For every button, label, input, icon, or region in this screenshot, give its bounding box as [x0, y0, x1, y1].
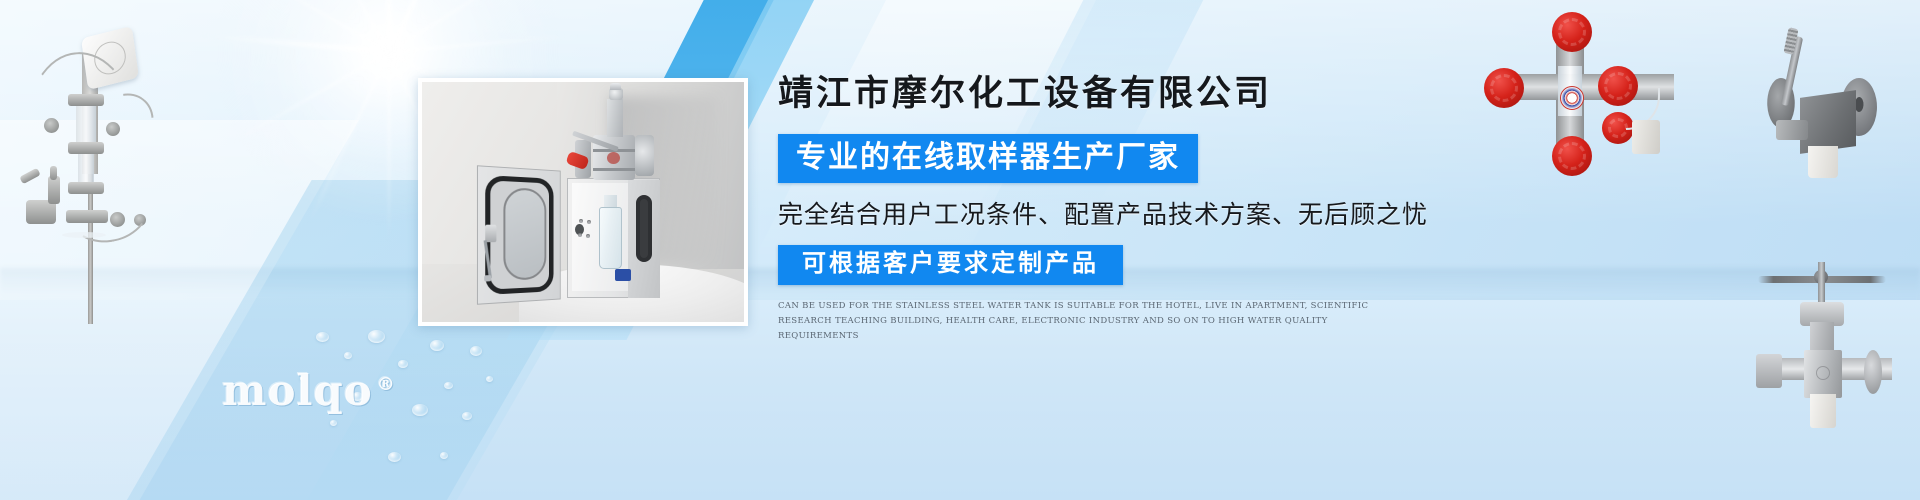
sampler-valve-brand-seal — [607, 152, 620, 164]
sample-bottle-cap — [615, 269, 631, 281]
handwheel-valve-brand-mark — [1816, 366, 1830, 380]
sampler-cabinet-bolt-holes — [573, 219, 592, 243]
product-photo — [422, 82, 744, 322]
equipment-sample-bottle — [62, 232, 106, 238]
red-handwheel-top — [1552, 12, 1592, 52]
sampler-valve-knob — [610, 83, 620, 90]
lever-valve-illustration — [1748, 22, 1908, 202]
left-equipment-illustration — [10, 24, 170, 324]
banner-text-column: 靖江市摩尔化工设备有限公司 专业的在线取样器生产厂家 完全结合用户工况条件、配置… — [778, 72, 1418, 344]
sampler-valve-flange-right — [635, 135, 654, 176]
handwheel-valve-illustration — [1762, 258, 1902, 458]
cross-valve-sample-canister — [1632, 120, 1660, 154]
cta-text: 可根据客户要求定制产品 — [802, 250, 1099, 277]
product-hero-banner: 靖江市摩尔化工设备有限公司 专业的在线取样器生产厂家 完全结合用户工况条件、配置… — [0, 0, 1920, 500]
red-handwheel-bottom — [1552, 136, 1592, 176]
company-title: 靖江市摩尔化工设备有限公司 — [778, 72, 1418, 116]
brand-seal-icon — [1560, 86, 1584, 110]
watermark-text: molqo — [222, 366, 373, 415]
cabinet-door-window — [504, 187, 546, 281]
lever-valve-body — [1800, 90, 1856, 154]
sampler-valve-band-lower — [593, 168, 635, 171]
product-photo-frame[interactable] — [418, 78, 748, 326]
lever-valve-sample-cup — [1808, 146, 1838, 178]
cross-valve-assembly — [1494, 28, 1674, 158]
english-description: CAN BE USED FOR THE STAINLESS STEEL WATE… — [778, 299, 1378, 344]
red-handwheel-left — [1484, 68, 1524, 108]
handwheel-valve-sample-cup — [1810, 394, 1836, 428]
sampler-cabinet-door — [477, 166, 561, 306]
headline-text: 专业的在线取样器生产厂家 — [796, 141, 1180, 174]
sampler-cabinet-handle — [636, 195, 652, 262]
sample-bottle — [599, 207, 622, 269]
lever-valve-actuator — [1776, 120, 1808, 140]
cabinet-door-keyring — [484, 275, 491, 282]
handwheel-valve-flange-right — [1864, 350, 1882, 394]
subline-text: 完全结合用户工况条件、配置产品技术方案、无后顾之忧 — [778, 200, 1418, 230]
headline-highlight-bar: 专业的在线取样器生产厂家 — [778, 134, 1198, 183]
sampler-valve-stem — [607, 99, 623, 137]
handwheel-valve-flange-left — [1756, 354, 1782, 388]
cta-highlight-bar[interactable]: 可根据客户要求定制产品 — [778, 245, 1123, 285]
brand-watermark: molqo® — [222, 366, 396, 415]
watermark-registered-mark: ® — [377, 374, 396, 395]
